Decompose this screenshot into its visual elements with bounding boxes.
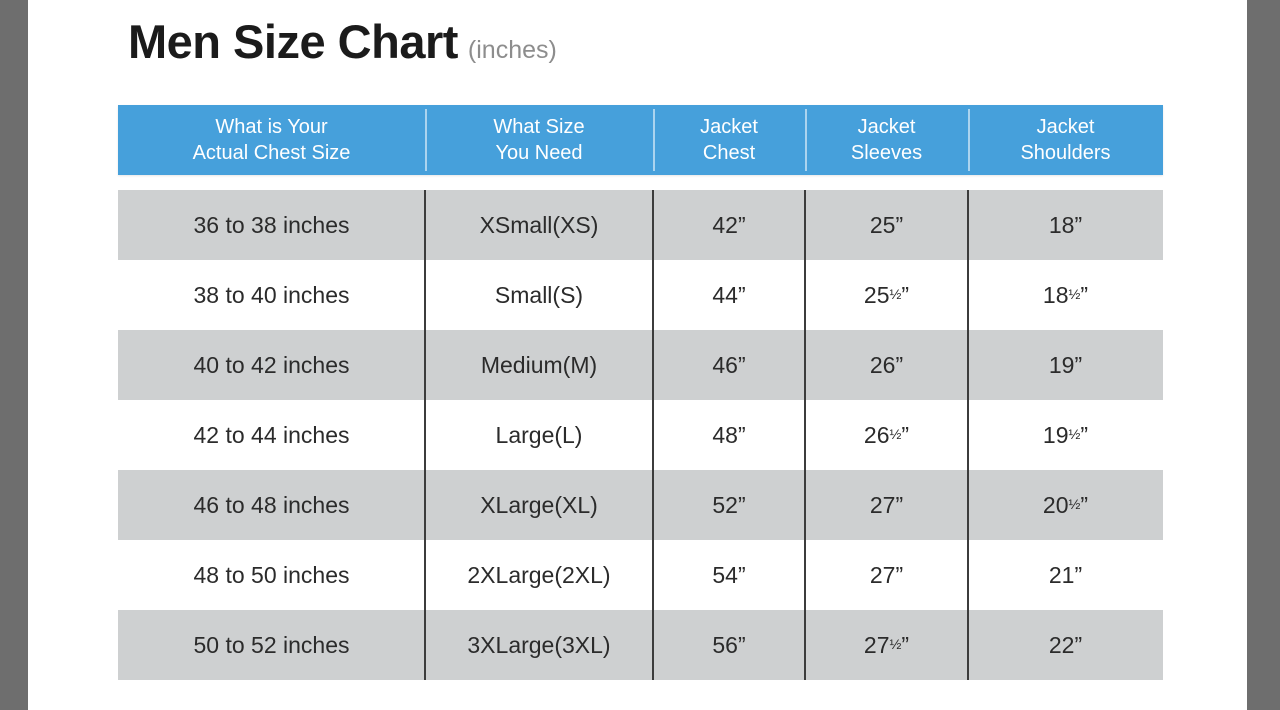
cell-jacket-sleeves: 27” — [805, 540, 968, 610]
cell-size-needed: Large(L) — [425, 400, 653, 470]
page-title: Men Size Chart (inches) — [128, 18, 557, 65]
table-row: 50 to 52 inches 3XLarge(3XL) 56” 27½” 22… — [118, 610, 1163, 680]
cell-chest-size: 42 to 44 inches — [118, 400, 425, 470]
column-header-line2: You Need — [493, 140, 584, 166]
cell-jacket-shoulders: 19” — [968, 330, 1163, 400]
column-header-line2: Sleeves — [851, 140, 922, 166]
size-chart-table: What is Your Actual Chest Size What Size… — [118, 105, 1163, 680]
cell-jacket-chest: 42” — [653, 190, 805, 260]
cell-chest-size: 40 to 42 inches — [118, 330, 425, 400]
cell-chest-size: 46 to 48 inches — [118, 470, 425, 540]
column-header-line1: Jacket — [851, 114, 922, 140]
table-row: 38 to 40 inches Small(S) 44” 25½” 18½” — [118, 260, 1163, 330]
cell-jacket-sleeves: 26½” — [805, 400, 968, 470]
table-header-row: What is Your Actual Chest Size What Size… — [118, 105, 1163, 175]
table-row: 46 to 48 inches XLarge(XL) 52” 27” 20½” — [118, 470, 1163, 540]
chart-page: Men Size Chart (inches) What is Your Act… — [28, 0, 1247, 710]
column-header-line1: Jacket — [700, 114, 758, 140]
cell-jacket-sleeves: 27½” — [805, 610, 968, 680]
column-header-line2: Shoulders — [1020, 140, 1110, 166]
cell-size-needed: XLarge(XL) — [425, 470, 653, 540]
letterbox-band-right — [1247, 0, 1280, 710]
cell-jacket-chest: 52” — [653, 470, 805, 540]
cell-jacket-chest: 54” — [653, 540, 805, 610]
cell-jacket-shoulders: 19½” — [968, 400, 1163, 470]
table-row: 42 to 44 inches Large(L) 48” 26½” 19½” — [118, 400, 1163, 470]
cell-jacket-shoulders: 20½” — [968, 470, 1163, 540]
column-header-line1: What Size — [493, 114, 584, 140]
cell-jacket-sleeves: 26” — [805, 330, 968, 400]
cell-jacket-chest: 48” — [653, 400, 805, 470]
column-header-size-you-need: What Size You Need — [425, 105, 653, 175]
cell-size-needed: 2XLarge(2XL) — [425, 540, 653, 610]
column-header-actual-chest-size: What is Your Actual Chest Size — [118, 105, 425, 175]
table-row: 48 to 50 inches 2XLarge(2XL) 54” 27” 21” — [118, 540, 1163, 610]
cell-jacket-sleeves: 25½” — [805, 260, 968, 330]
letterbox-band-left — [0, 0, 28, 710]
table-row: 40 to 42 inches Medium(M) 46” 26” 19” — [118, 330, 1163, 400]
table-row: 36 to 38 inches XSmall(XS) 42” 25” 18” — [118, 190, 1163, 260]
cell-size-needed: Small(S) — [425, 260, 653, 330]
column-header-line2: Actual Chest Size — [193, 140, 351, 166]
column-header-jacket-sleeves: Jacket Sleeves — [805, 105, 968, 175]
cell-jacket-sleeves: 25” — [805, 190, 968, 260]
cell-jacket-chest: 56” — [653, 610, 805, 680]
cell-chest-size: 38 to 40 inches — [118, 260, 425, 330]
column-header-line1: Jacket — [1020, 114, 1110, 140]
column-header-line2: Chest — [700, 140, 758, 166]
cell-jacket-shoulders: 18” — [968, 190, 1163, 260]
page-title-main: Men Size Chart — [128, 18, 458, 65]
page-title-unit: (inches) — [468, 38, 557, 63]
cell-jacket-shoulders: 21” — [968, 540, 1163, 610]
cell-jacket-sleeves: 27” — [805, 470, 968, 540]
cell-size-needed: XSmall(XS) — [425, 190, 653, 260]
table-body: 36 to 38 inches XSmall(XS) 42” 25” 18” 3… — [118, 190, 1163, 680]
cell-size-needed: 3XLarge(3XL) — [425, 610, 653, 680]
column-header-jacket-shoulders: Jacket Shoulders — [968, 105, 1163, 175]
cell-jacket-shoulders: 18½” — [968, 260, 1163, 330]
cell-jacket-shoulders: 22” — [968, 610, 1163, 680]
cell-size-needed: Medium(M) — [425, 330, 653, 400]
column-header-jacket-chest: Jacket Chest — [653, 105, 805, 175]
cell-chest-size: 48 to 50 inches — [118, 540, 425, 610]
cell-jacket-chest: 44” — [653, 260, 805, 330]
cell-chest-size: 36 to 38 inches — [118, 190, 425, 260]
cell-jacket-chest: 46” — [653, 330, 805, 400]
cell-chest-size: 50 to 52 inches — [118, 610, 425, 680]
column-header-line1: What is Your — [193, 114, 351, 140]
